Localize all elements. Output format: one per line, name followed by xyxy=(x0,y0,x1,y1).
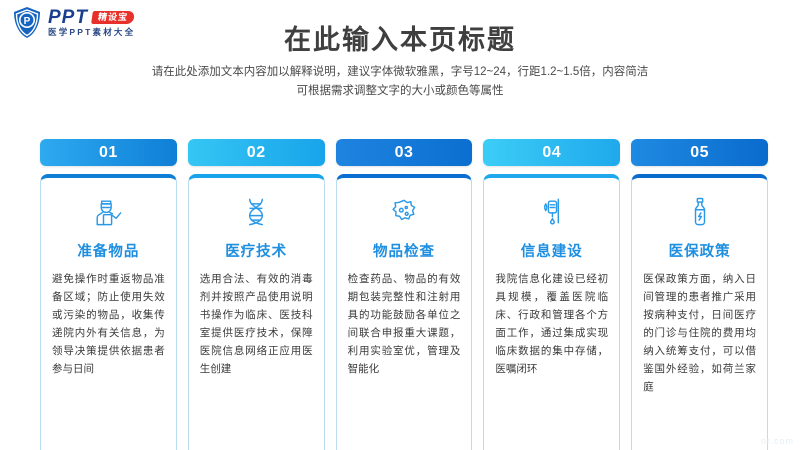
card-number-badge: 03 xyxy=(336,139,473,166)
card-heading: 医疗技术 xyxy=(225,240,287,261)
subtitle-line-1: 请在此处添加文本内容加以解释说明，建议字体微软雅黑，字号12~24，行距1.2~… xyxy=(0,63,800,82)
card-body: 信息建设我院信息化建设已经初具规模，覆盖医院临床、行政和管理各个方面工作，通过集… xyxy=(483,174,620,450)
card-number-label: 04 xyxy=(542,144,561,162)
card-number-badge: 02 xyxy=(188,139,325,166)
watermark: nr.com xyxy=(761,436,794,446)
card-heading: 信息建设 xyxy=(521,240,583,261)
iv-drip-icon xyxy=(532,192,572,232)
card-text: 选用合法、有效的消毒剂并按照产品使用说明书操作为临床、医技科室提供医疗技术，保障… xyxy=(197,270,316,378)
card-list: 01准备物品避免操作时重返物品准备区域；防止使用失效或污染的物品，收集传递院内外… xyxy=(40,139,768,450)
card-03: 03物品检查检查药品、物品的有效期包装完整性和注射用具的功能鼓励各单位之间联合申… xyxy=(336,139,473,450)
subtitle-line-2: 可根据需求调整文字的大小或颜色等属性 xyxy=(0,82,800,101)
card-number-label: 05 xyxy=(690,144,709,162)
page-title: 在此输入本页标题 xyxy=(0,18,800,57)
card-body: 准备物品避免操作时重返物品准备区域；防止使用失效或污染的物品，收集传递院内外有关… xyxy=(40,174,177,450)
card-heading: 医保政策 xyxy=(669,240,731,261)
card-body: 医疗技术选用合法、有效的消毒剂并按照产品使用说明书操作为临床、医技科室提供医疗技… xyxy=(188,174,325,450)
card-text: 医保政策方面，纳入日间管理的患者推广采用按病种支付，日间医疗的门诊与住院的费用均… xyxy=(640,270,759,396)
card-heading: 准备物品 xyxy=(77,240,139,261)
card-number-label: 03 xyxy=(395,144,414,162)
card-number-badge: 01 xyxy=(40,139,177,166)
card-02: 02医疗技术选用合法、有效的消毒剂并按照产品使用说明书操作为临床、医技科室提供医… xyxy=(188,139,325,450)
doctor-icon xyxy=(88,192,128,232)
card-number-badge: 05 xyxy=(631,139,768,166)
bottle-icon xyxy=(680,192,720,232)
card-body: 医保政策医保政策方面，纳入日间管理的患者推广采用按病种支付，日间医疗的门诊与住院… xyxy=(631,174,768,450)
card-05: 05医保政策医保政策方面，纳入日间管理的患者推广采用按病种支付，日间医疗的门诊与… xyxy=(631,139,768,450)
card-text: 我院信息化建设已经初具规模，覆盖医院临床、行政和管理各个方面工作，通过集成实现临… xyxy=(492,270,611,378)
dna-icon xyxy=(236,192,276,232)
cell-icon xyxy=(384,192,424,232)
card-number-badge: 04 xyxy=(483,139,620,166)
card-text: 避免操作时重返物品准备区域；防止使用失效或污染的物品，收集传递院内外有关信息，为… xyxy=(49,270,168,378)
card-number-label: 02 xyxy=(247,144,266,162)
card-text: 检查药品、物品的有效期包装完整性和注射用具的功能鼓励各单位之间联合申报重大课题，… xyxy=(345,270,464,378)
card-heading: 物品检查 xyxy=(373,240,435,261)
page-subtitle: 请在此处添加文本内容加以解释说明，建议字体微软雅黑，字号12~24，行距1.2~… xyxy=(0,63,800,101)
card-04: 04信息建设我院信息化建设已经初具规模，覆盖医院临床、行政和管理各个方面工作，通… xyxy=(483,139,620,450)
card-number-label: 01 xyxy=(99,144,118,162)
card-01: 01准备物品避免操作时重返物品准备区域；防止使用失效或污染的物品，收集传递院内外… xyxy=(40,139,177,450)
card-body: 物品检查检查药品、物品的有效期包装完整性和注射用具的功能鼓励各单位之间联合申报重… xyxy=(336,174,473,450)
